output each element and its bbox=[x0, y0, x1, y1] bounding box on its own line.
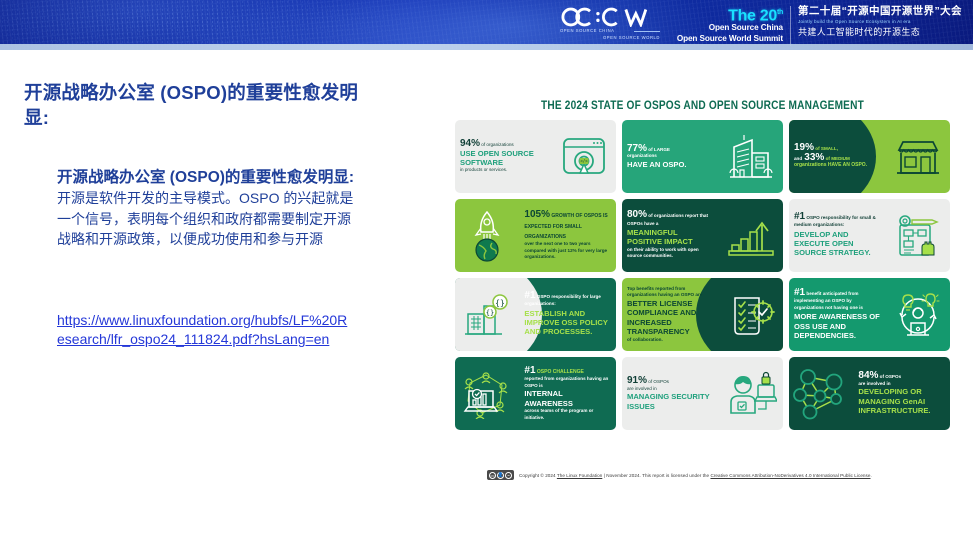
page-title: 开源战略办公室 (OSPO)的重要性愈发明显: bbox=[24, 80, 379, 130]
footer-copyright-pre: Copyright © 2024 bbox=[519, 473, 557, 478]
person-lock-laptop-icon bbox=[719, 371, 783, 417]
laptop-network-people-icon bbox=[455, 369, 519, 419]
stat-line-1: #1 OSPO responsibility for small & mediu… bbox=[794, 213, 881, 229]
stat-tail: over the next one to two years compared … bbox=[524, 241, 611, 261]
stat-value: 77% bbox=[627, 143, 647, 154]
conference-header-banner: OPEN SOURCE CHINA OPEN SOURCE WORLD The … bbox=[0, 0, 973, 50]
stat-lead: OSPO CHALLENGE bbox=[536, 369, 584, 375]
stat-card-managing-security-issues: 91% of OSPOs are involved in MANAGING SE… bbox=[622, 357, 783, 430]
stat-lead: benefit anticipated from implementing an… bbox=[794, 291, 863, 310]
stat-lead: of LARGE bbox=[647, 147, 670, 152]
stat-lead: of OSPOs bbox=[647, 379, 669, 384]
stat-lead-text: Top benefits reported from organizations… bbox=[627, 286, 702, 298]
svg-text:{}: {} bbox=[495, 298, 505, 307]
stat-value: #1 bbox=[524, 365, 535, 376]
stat-card-text: #1 OSPO responsibility for small & mediu… bbox=[789, 213, 886, 258]
conference-line-en-1: Open Source China bbox=[668, 23, 783, 34]
stat-mid-2: of MEDIUM bbox=[824, 156, 850, 161]
stat-tail: of collaboration. bbox=[627, 337, 714, 344]
conference-edition-number: The 20th bbox=[668, 5, 783, 23]
stat-card-text: Top benefits reported from organizations… bbox=[622, 286, 719, 343]
ocow-sub-right: OPEN SOURCE WORLD bbox=[560, 35, 660, 40]
conference-line-cn-small: 共建人工智能时代的开源生态 bbox=[798, 26, 962, 38]
ocow-logo: OPEN SOURCE CHINA OPEN SOURCE WORLD bbox=[560, 7, 660, 45]
stat-lead: of organizations bbox=[480, 142, 514, 147]
stat-mid: organizations bbox=[627, 153, 714, 160]
office-building-icon bbox=[719, 133, 783, 181]
svg-text:{}: {} bbox=[486, 309, 494, 317]
stat-value: #1 bbox=[524, 290, 535, 301]
banner-bottom-strip bbox=[0, 44, 973, 50]
stat-mid: and bbox=[794, 156, 802, 161]
rocket-globe-icon bbox=[455, 209, 519, 263]
stat-highlight: BETTER LICENSE COMPLIANCE AND INCREASED … bbox=[627, 299, 714, 337]
stat-highlight: DEVELOPING OR MANAGING GenAI INFRASTRUCT… bbox=[858, 387, 945, 415]
stat-line-1: 105% GROWTH OF OSPOS IS EXPECTED FOR SMA… bbox=[524, 210, 611, 241]
checklist-gear-icon bbox=[719, 292, 783, 338]
by-mark-icon: 👤 bbox=[497, 472, 504, 479]
footer-org-link[interactable]: The Linux Foundation bbox=[557, 473, 602, 478]
storefront-icon bbox=[886, 137, 950, 177]
stat-card-text: #1 OSPO CHALLENGE reported from organiza… bbox=[519, 366, 616, 421]
stat-card-text: #1 OSPO responsibility for large organiz… bbox=[519, 292, 616, 337]
stat-card-use-open-source-software: 94% of organizations USE OPEN SOURCE SOF… bbox=[455, 120, 616, 193]
stat-line-1: 94% of organizations bbox=[460, 139, 547, 149]
stat-card-small-medium-have-ospo: 19% of SMALL, and 33% of MEDIUM organiza… bbox=[789, 120, 950, 193]
stat-card-top-benefits-license-compliance: Top benefits reported from organizations… bbox=[622, 278, 783, 351]
stat-card-challenge-internal-awareness: #1 OSPO CHALLENGE reported from organiza… bbox=[455, 357, 616, 430]
footer-copyright-text: Copyright © 2024 The Linux Foundation | … bbox=[519, 472, 872, 479]
stat-card-text: 105% GROWTH OF OSPOS IS EXPECTED FOR SMA… bbox=[519, 210, 616, 260]
stat-card-genai-infrastructure: 84% of OSPOs are involved in DEVELOPING … bbox=[789, 357, 950, 430]
stat-lead: Top benefits reported from organizations… bbox=[627, 286, 714, 299]
nd-mark-icon: = bbox=[505, 472, 512, 479]
creative-commons-badge-icon: cc 👤 = bbox=[487, 470, 514, 480]
stat-line-1: 77% of LARGE bbox=[627, 144, 714, 154]
person-laptop-ideas-icon bbox=[886, 291, 950, 339]
stat-lead: OSPO responsibility for small & medium o… bbox=[794, 215, 876, 227]
stat-mid: reported from organizations having an OS… bbox=[524, 376, 611, 389]
stat-value: 84% bbox=[858, 370, 878, 381]
stat-card-text: 19% of SMALL, and 33% of MEDIUM organiza… bbox=[789, 143, 886, 169]
stat-mid: are involved in bbox=[858, 381, 945, 388]
footer-license-link[interactable]: Creative Commons Attribution-NoDerivativ… bbox=[710, 473, 870, 478]
stat-highlight: organizations HAVE AN OSPO. bbox=[794, 162, 881, 169]
stat-value: 91% bbox=[627, 375, 647, 386]
bar-chart-arrow-icon bbox=[719, 213, 783, 259]
browser-opensource-icon: </> bbox=[552, 135, 616, 179]
infographic-title: THE 2024 STATE OF OSPOS AND OPEN SOURCE … bbox=[485, 100, 921, 112]
stat-highlight: MANAGING SECURITY ISSUES bbox=[627, 392, 714, 411]
body-text-block: 开源战略办公室 (OSPO)的重要性愈发明显: 开源是软件开发的主导模式。OSP… bbox=[57, 167, 357, 250]
stat-tail: in products or services. bbox=[460, 167, 547, 174]
stat-mid: are involved in bbox=[627, 386, 714, 393]
stat-value: 80% bbox=[627, 209, 647, 220]
stat-card-meaningful-positive-impact: 80% of organizations report that OSPOs h… bbox=[622, 199, 783, 272]
ocow-wordmark-icon bbox=[560, 7, 660, 27]
stat-line-2: and 33% of MEDIUM bbox=[794, 153, 881, 163]
stat-lead: of OSPOs bbox=[878, 374, 901, 379]
conference-title-chinese: 第二十届“开源中国开源世界”大会 Jointly build the Open … bbox=[791, 5, 962, 47]
conference-title-block: The 20th Open Source China Open Source W… bbox=[668, 5, 966, 47]
stat-line-1: 84% of OSPOs bbox=[858, 371, 945, 381]
stat-card-ospo-growth-small-orgs: 105% GROWTH OF OSPOS IS EXPECTED FOR SMA… bbox=[455, 199, 616, 272]
svg-text:</>: </> bbox=[580, 158, 588, 163]
stat-line-1: #1 OSPO CHALLENGE bbox=[524, 366, 611, 376]
stat-card-text: 80% of organizations report that OSPOs h… bbox=[622, 211, 719, 259]
stat-card-text: 77% of LARGE organizations HAVE AN OSPO. bbox=[622, 144, 719, 170]
stat-line-1: #1 benefit anticipated from implementing… bbox=[794, 289, 881, 313]
stat-highlight: MORE AWARENESS OF OSS USE AND DEPENDENCI… bbox=[794, 312, 881, 340]
conference-line-cn-big: 第二十届“开源中国开源世界”大会 bbox=[798, 5, 962, 18]
footer-mid-text: | November 2024. This report is licensed… bbox=[602, 473, 710, 478]
body-heading: 开源战略办公室 (OSPO)的重要性愈发明显: bbox=[57, 167, 357, 188]
infographic-grid: 94% of organizations USE OPEN SOURCE SOF… bbox=[455, 120, 950, 430]
stat-lead: of SMALL, bbox=[814, 146, 838, 151]
footer-end-text: . bbox=[870, 473, 871, 478]
stat-highlight: MEANINGFUL POSITIVE IMPACT bbox=[627, 228, 714, 247]
stat-value: #1 bbox=[794, 211, 805, 222]
stat-tail: across teams of the program or initiativ… bbox=[524, 408, 611, 421]
infographic: THE 2024 STATE OF OSPOS AND OPEN SOURCE … bbox=[455, 100, 950, 495]
stat-value: #1 bbox=[794, 287, 805, 298]
conference-title-english: The 20th Open Source China Open Source W… bbox=[668, 5, 790, 47]
stat-card-responsibility-small-medium: #1 OSPO responsibility for small & mediu… bbox=[789, 199, 950, 272]
edition-number-text: The 20 bbox=[728, 7, 777, 24]
stat-highlight: HAVE AN OSPO. bbox=[627, 160, 714, 169]
body-paragraph: 开源是软件开发的主导模式。OSPO 的兴起就是一个信号，表明每个组织和政府都需要… bbox=[57, 188, 357, 250]
source-report-link[interactable]: https://www.linuxfoundation.org/hubfs/LF… bbox=[57, 311, 349, 349]
stat-card-text: #1 benefit anticipated from implementing… bbox=[789, 289, 886, 341]
stat-card-text: 91% of OSPOs are involved in MANAGING SE… bbox=[622, 376, 719, 411]
stat-highlight: DEVELOP AND EXECUTE OPEN SOURCE STRATEGY… bbox=[794, 230, 881, 258]
stat-line-1: #1 OSPO responsibility for large organiz… bbox=[524, 292, 611, 308]
stat-highlight: ESTABLISH AND IMPROVE OSS POLICY AND PRO… bbox=[524, 309, 611, 337]
stat-value-2: 33% bbox=[804, 152, 824, 163]
network-nodes-icon bbox=[789, 366, 853, 422]
conference-line-en-2: Open Source World Summit bbox=[668, 34, 783, 45]
cc-mark-icon: cc bbox=[489, 472, 496, 479]
stat-line-1: 80% of organizations report that OSPOs h… bbox=[627, 211, 714, 227]
infographic-footer: cc 👤 = Copyright © 2024 The Linux Founda… bbox=[487, 468, 917, 482]
edition-ordinal: th bbox=[777, 9, 783, 16]
stat-line-1: 91% of OSPOs bbox=[627, 376, 714, 386]
stat-card-responsibility-large-orgs: #1 OSPO responsibility for large organiz… bbox=[455, 278, 616, 351]
stat-card-text: 84% of OSPOs are involved in DEVELOPING … bbox=[853, 371, 950, 415]
stat-highlight: USE OPEN SOURCE SOFTWARE bbox=[460, 149, 547, 168]
stat-card-benefit-more-awareness: #1 benefit anticipated from implementing… bbox=[789, 278, 950, 351]
stat-highlight: INTERNAL AWARENESS bbox=[524, 389, 611, 408]
stat-value: 105% bbox=[524, 209, 550, 220]
stat-tail: on their ability to work with open sourc… bbox=[627, 247, 714, 260]
stat-card-text: 94% of organizations USE OPEN SOURCE SOF… bbox=[455, 139, 552, 174]
strategy-board-icon bbox=[886, 213, 950, 259]
buildings-code-icon: {} {} bbox=[455, 292, 519, 338]
conference-line-en-small: Jointly build the Open Source Ecosystem … bbox=[798, 18, 962, 26]
stat-value: 94% bbox=[460, 138, 480, 149]
slide-root: OPEN SOURCE CHINA OPEN SOURCE WORLD The … bbox=[0, 0, 973, 547]
stat-card-large-orgs-have-ospo: 77% of LARGE organizations HAVE AN OSPO. bbox=[622, 120, 783, 193]
ocow-sub-left: OPEN SOURCE CHINA bbox=[560, 28, 660, 33]
